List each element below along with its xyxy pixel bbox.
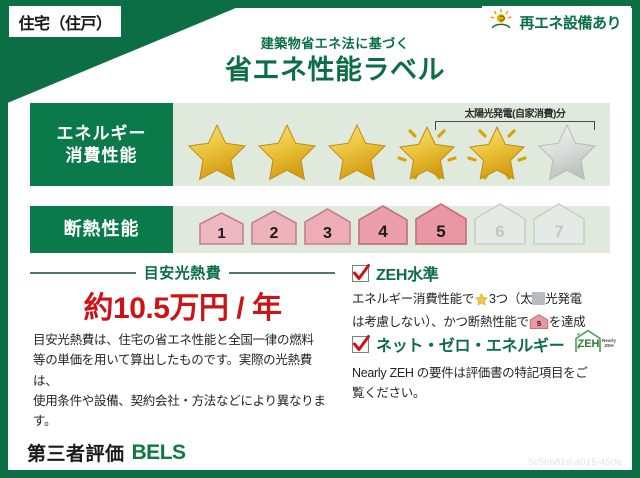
insulation-rating-area: 1 2 3 [173, 206, 610, 253]
insulation-grade-4: 4 [356, 204, 410, 250]
svg-text:3: 3 [323, 225, 332, 242]
insulation-grade-1: 1 [197, 211, 246, 250]
cost-heading: 目安光熱費 [30, 262, 335, 283]
cost-rule-left [30, 272, 136, 274]
net-zero-energy-description: Nearly ZEH の要件は評価書の特記項目をご 覧ください。 [352, 363, 624, 404]
net-zero-energy-title: ネット・ゼロ・エネルギー [376, 332, 564, 356]
zeh-standard-title: ZEH水準 [376, 261, 439, 285]
page-title: 建築物省エネ法に基づく 省エネ性能ラベル [170, 36, 500, 87]
category-tag: 住宅（住戸） [9, 6, 121, 37]
bels-jp-label: 第三者評価 [27, 439, 125, 466]
cost-disclaimer-line1: 目安光熱費は、住宅の省エネ性能と全国一律の燃料 [33, 330, 333, 350]
renewable-energy-badge: 再エネ設備あり [482, 6, 631, 39]
energy-performance-row: エネルギー 消費性能 太陽光発電(自家消費)分 [30, 103, 610, 186]
energy-performance-label: 住宅（住戸） 再エネ設備あり 建築物省エネ法に基づく 省エネ性能ラベル [0, 0, 640, 478]
zeh-standard-header: ZEH水準 [352, 261, 624, 285]
nze-desc-line2: 覧ください。 [352, 383, 624, 403]
insulation-grade-6: 6 [472, 202, 528, 250]
energy-label-line1: エネルギー [57, 123, 147, 144]
zeh-standard-block: ZEH水準 エネルギー消費性能で3つ（太光発電 は考慮しない）、かつ断熱性能で5… [352, 261, 624, 336]
cost-rule-right [229, 272, 335, 274]
insulation-grade-3: 3 [302, 207, 353, 250]
svg-text:6: 6 [495, 222, 504, 241]
zeh-standard-checkbox[interactable] [352, 265, 369, 282]
svg-text:1: 1 [217, 225, 225, 242]
cost-heading-label: 目安光熱費 [144, 262, 222, 283]
net-zero-energy-checkbox[interactable] [352, 336, 369, 353]
svg-text:ZEH: ZEH [605, 343, 615, 348]
energy-performance-label: エネルギー 消費性能 [30, 103, 173, 186]
insulation-performance-row: 断熱性能 1 2 3 [30, 206, 610, 253]
renewable-badge-label: 再エネ設備あり [519, 12, 621, 33]
insulation-grade-2: 2 [249, 209, 299, 250]
solar-sun-icon [488, 8, 514, 37]
evaluation-date: 評価日 2025年10月20日 [469, 435, 622, 455]
cost-value: 約10.5万円 / 年 [30, 283, 335, 327]
net-zero-energy-header: ネット・ゼロ・エネルギー ZEH Nearly ZEH [352, 329, 624, 359]
inline-star-icon [474, 292, 489, 312]
svg-text:2: 2 [269, 225, 278, 242]
redaction-block [532, 292, 545, 305]
evaluation-info: 評価日 2025年10月20日 5c5bb81d-a015-450e [469, 435, 622, 468]
star-filled-solar-4 [393, 118, 461, 184]
zeh-desc-part4: は考慮しない）、かつ断熱性能で [352, 315, 529, 329]
star-empty-6 [533, 118, 601, 184]
building-name: ヴェルデ [212, 442, 270, 462]
insulation-grade-7: 7 [531, 202, 587, 250]
svg-text:5: 5 [537, 319, 541, 328]
cost-disclaimer: 目安光熱費は、住宅の省エネ性能と全国一律の燃料 等の単価を用いて算出したものです… [33, 330, 333, 431]
insulation-grade-5: 5 [413, 202, 469, 250]
zeh-desc-part3: 光発電 [545, 292, 582, 306]
insulation-grade-scale: 1 2 3 [173, 202, 610, 250]
star-filled-3 [323, 118, 391, 184]
unit-number: 102 [282, 446, 305, 462]
star-filled-2 [253, 118, 321, 184]
energy-rating-area: 太陽光発電(自家消費)分 [173, 103, 610, 186]
bels-en-label: BELS [132, 441, 186, 465]
bels-certification-badge: 第三者評価 BELS [18, 437, 195, 468]
star-rating [173, 118, 610, 184]
title-main: 省エネ性能ラベル [170, 54, 500, 88]
svg-text:5: 5 [436, 222, 445, 241]
star-filled-solar-5 [463, 118, 531, 184]
net-zero-energy-block: ネット・ゼロ・エネルギー ZEH Nearly ZEH Nearly ZEH の… [352, 329, 624, 404]
cost-disclaimer-line3: 使用条件や設備、契約会社・方法などにより異なります。 [33, 391, 333, 432]
energy-label-line2: 消費性能 [66, 145, 138, 166]
svg-text:7: 7 [554, 222, 563, 241]
zeh-desc-part5: を達成 [549, 315, 586, 329]
cost-disclaimer-line2: 等の単価を用いて算出したものです。実際の光熱費は、 [33, 350, 333, 391]
zeh-desc-part2: 3つ（太 [489, 292, 532, 306]
insulation-performance-label: 断熱性能 [30, 206, 173, 253]
zeh-house-logo-icon: ZEH Nearly ZEH [573, 329, 619, 359]
title-subtitle: 建築物省エネ法に基づく [170, 36, 500, 52]
zeh-desc-part1: エネルギー消費性能で [352, 292, 474, 306]
nze-desc-line1: Nearly ZEH の要件は評価書の特記項目をご [352, 363, 624, 383]
svg-text:ZEH: ZEH [578, 338, 600, 350]
star-filled-1 [183, 118, 251, 184]
evaluation-id: 5c5bb81d-a015-450e [469, 457, 622, 468]
svg-text:4: 4 [378, 222, 388, 241]
